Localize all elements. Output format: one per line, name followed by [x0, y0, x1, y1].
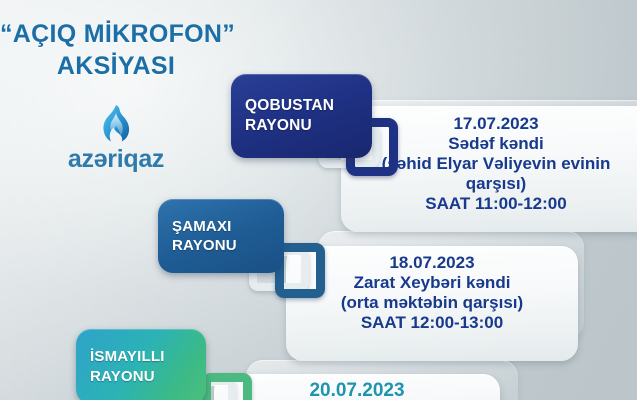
district-badge-ismayilli[interactable]: İSMAYILLI RAYONU [76, 329, 206, 400]
event-card-ismayilli: 20.07.2023 [214, 374, 500, 400]
event-time-1: SAAT 11:00-12:00 [341, 194, 637, 214]
brand-logo: azəriqaz [0, 104, 232, 172]
brand-wordmark: azəriqaz [0, 147, 232, 172]
district-badge-samaxi-line-1: ŞAMAXI [172, 217, 284, 237]
district-badge-qobustan[interactable]: QOBUSTAN RAYONU [231, 74, 372, 158]
event-date-3: 20.07.2023 [214, 380, 500, 400]
announcement-poster: “AÇIQ MİKROFON” AKSİYASI azəriqaz [0, 0, 637, 400]
district-badge-qobustan-line-1: QOBUSTAN [245, 96, 372, 116]
district-badge-ismayilli-line-1: İSMAYILLI [90, 347, 206, 367]
title-line-2: AKSİYASI [0, 50, 232, 82]
event-card-samaxi: 18.07.2023 Zarat Xeybəri kəndi (orta mək… [286, 246, 578, 361]
event-detail-1b: qarşısı) [341, 174, 637, 194]
district-badge-qobustan-line-2: RAYONU [245, 116, 372, 136]
event-date-2: 18.07.2023 [286, 253, 578, 273]
flame-icon [98, 104, 134, 144]
district-badge-samaxi-line-2: RAYONU [172, 236, 284, 256]
chain-link-loop-green-3 [202, 373, 252, 400]
event-time-2: SAAT 12:00-13:00 [286, 313, 578, 333]
district-badge-ismayilli-line-2: RAYONU [90, 367, 206, 387]
page-title: “AÇIQ MİKROFON” AKSİYASI [0, 18, 232, 82]
event-detail-2a: (orta məktəbin qarşısı) [286, 293, 578, 313]
title-line-1: “AÇIQ MİKROFON” [0, 18, 232, 50]
event-venue-2: Zarat Xeybəri kəndi [286, 273, 578, 293]
district-badge-samaxi[interactable]: ŞAMAXI RAYONU [158, 199, 284, 273]
